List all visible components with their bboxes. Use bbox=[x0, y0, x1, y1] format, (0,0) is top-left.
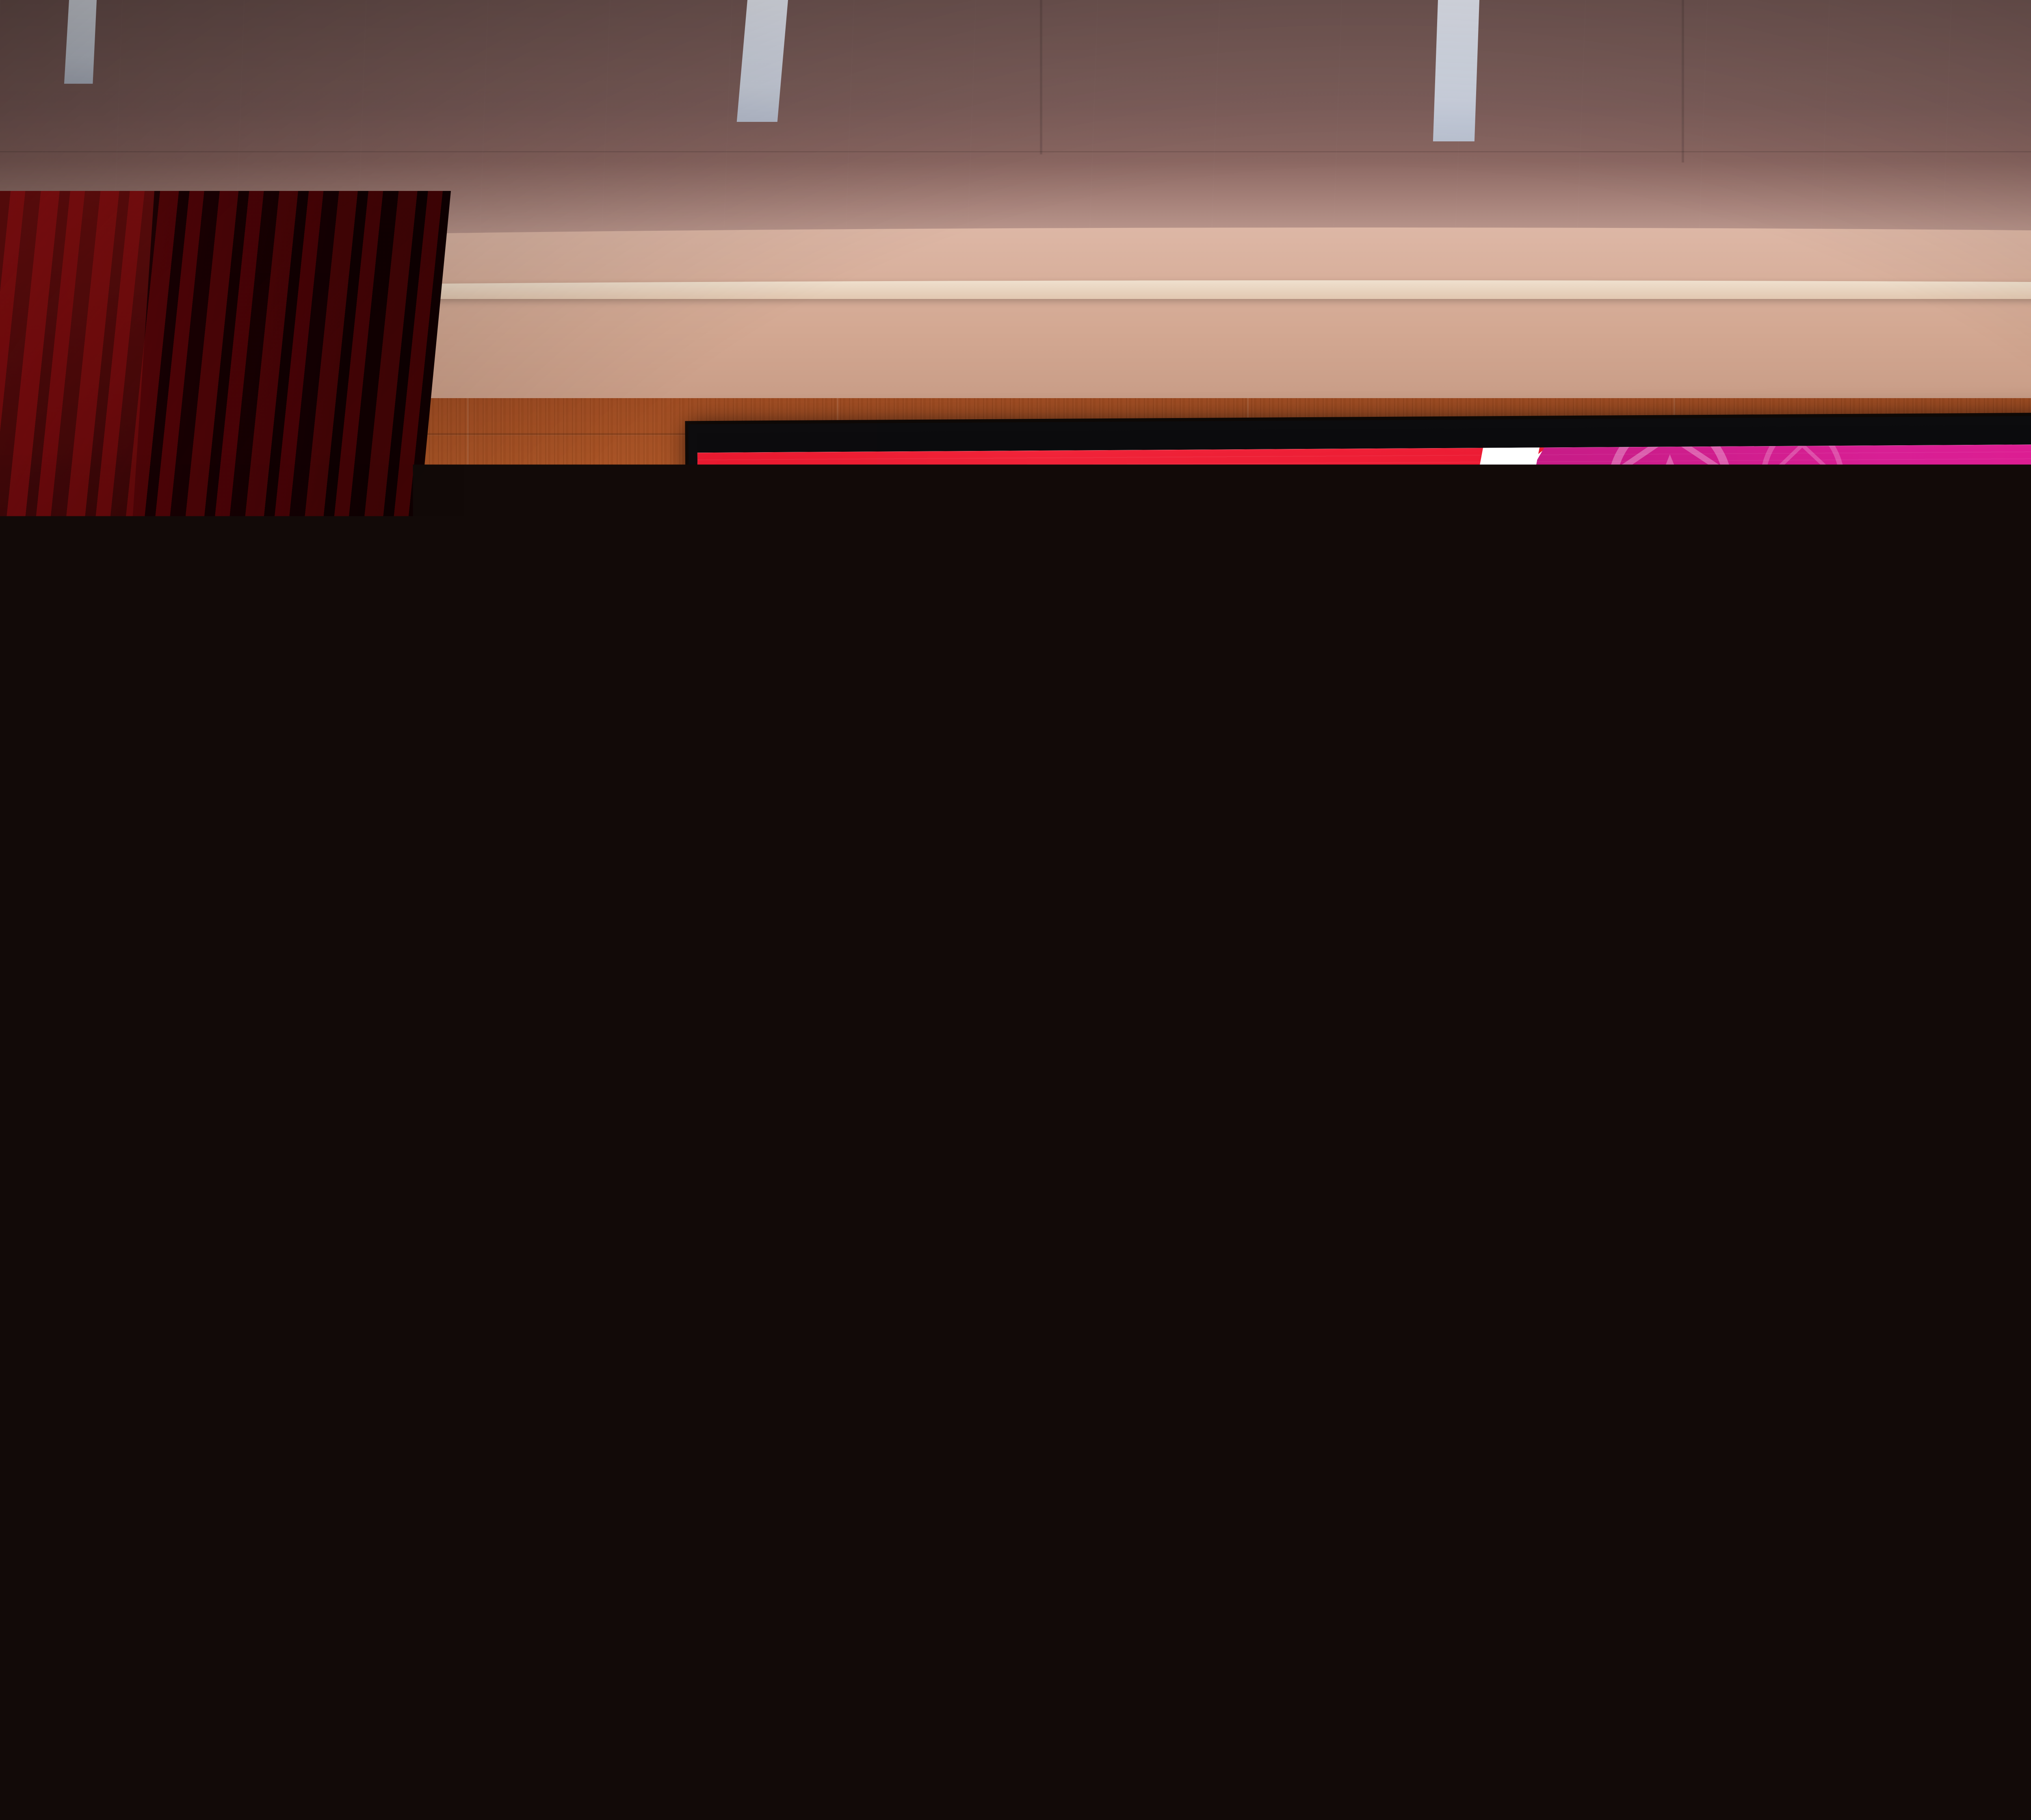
ceiling-seam bbox=[1040, 0, 1042, 154]
presenter-eye-right bbox=[379, 1026, 391, 1031]
svg-text:NANKAI UNIVERSITY: NANKAI UNIVERSITY bbox=[406, 1290, 500, 1302]
nankai-seal-icon bbox=[737, 468, 786, 516]
wall-outlet-plate bbox=[1747, 1253, 1767, 1295]
nankai-name-block: 南开大学商学院 NANKAI BUSINESS SCHOOL bbox=[795, 471, 1007, 511]
header-watermark-icon bbox=[1584, 441, 1756, 532]
flourish-divider-icon bbox=[1879, 785, 2029, 795]
speaker-label bbox=[967, 1562, 1005, 1600]
speaker-power-led bbox=[898, 1591, 905, 1598]
podium-top-surface bbox=[323, 1163, 582, 1200]
podium-frieze-panel bbox=[472, 1218, 494, 1244]
slide-header-band: 南开大学商学院 NANKAI BUSINESS SCHOOL 智 / 圆 / 行… bbox=[697, 441, 2031, 532]
certificate-lace-left bbox=[1037, 647, 1068, 945]
speaker-podium: NANKAI UNIVERSITY 1919 bbox=[334, 1177, 571, 1599]
podium-frieze-panel bbox=[502, 1219, 524, 1244]
org-name-cn: 南开大学商学院 bbox=[795, 471, 1007, 498]
national-emblem-icon bbox=[1303, 645, 1364, 706]
certificate-serial: 编号： 2018 年第 02600 号 bbox=[1420, 797, 1602, 817]
floor-socket-icon bbox=[1641, 1492, 1680, 1506]
svg-text:中华人民共和国: 中华人民共和国 bbox=[1317, 875, 1368, 884]
podium-frieze-panel bbox=[533, 1219, 555, 1245]
auditorium-stage-photo: 南开大学商学院 NANKAI BUSINESS SCHOOL 智 / 圆 / 行… bbox=[0, 0, 2031, 1820]
water-bottle-icon bbox=[1353, 1750, 1377, 1811]
certificate-title-line2: 荣誉证书 bbox=[1031, 744, 1637, 795]
svg-text:1919: 1919 bbox=[440, 1395, 465, 1408]
wall-outlet-plate bbox=[630, 1243, 652, 1286]
org-name-en: NANKAI BUSINESS SCHOOL bbox=[795, 498, 1007, 511]
nankai-university-emblem-icon: NANKAI UNIVERSITY 1919 bbox=[385, 1280, 520, 1416]
certificate-left-band bbox=[1652, 638, 1678, 947]
certificate-date: 二〇一八年十一月二十日 bbox=[1033, 927, 1638, 946]
podium-frieze bbox=[350, 1216, 555, 1244]
podium-frieze-panel bbox=[381, 1217, 403, 1243]
ceiling-seam bbox=[1682, 0, 1684, 162]
presenter-bangs bbox=[334, 983, 409, 1020]
wall-outlet-plate bbox=[655, 1243, 676, 1286]
podium-rule bbox=[341, 1251, 564, 1257]
seat-back bbox=[1869, 1771, 2007, 1820]
credential-line-3: 特此发证，以资鼓励。 bbox=[1780, 892, 2031, 916]
podium-frieze-panel bbox=[442, 1218, 464, 1244]
credential-serial: 编号： 2018007 bbox=[1763, 927, 1857, 943]
water-bottle-icon bbox=[601, 1741, 626, 1802]
ceiling-baffle bbox=[1433, 0, 1479, 141]
credential-line-2: 奖学金，授予 “南开十杰” 荣誉称号。 bbox=[1762, 863, 2031, 887]
podium-frieze-panel bbox=[350, 1216, 372, 1242]
ceiling-seam bbox=[0, 151, 2031, 152]
ceiling-baffle bbox=[64, 0, 97, 84]
audience-foreground bbox=[0, 1601, 2031, 1820]
presenter-mouth bbox=[363, 1051, 381, 1058]
certificate-doctoral-scholarship: 博士研究生国家奖学金 荣誉证书 编号： 2018 年第 02600 号 曹倩 同… bbox=[1031, 638, 1638, 950]
wall-outlet-plate bbox=[841, 1246, 861, 1288]
certificate-recipient-name: 曹倩 bbox=[1074, 857, 1109, 877]
certificate-body-text: 同学荣获 2018 年博士研究生国家奖学金，特颁此证。 bbox=[1114, 858, 1480, 876]
certificate-lace-right bbox=[1600, 643, 1632, 941]
wall-outlet-plate bbox=[1353, 1250, 1373, 1292]
header-watermark-icon bbox=[1735, 441, 1870, 532]
nankai-logo-lockup: 南开大学商学院 NANKAI BUSINESS SCHOOL bbox=[737, 467, 1007, 516]
presenter-eye-left bbox=[352, 1026, 364, 1031]
slide-surface: 南开大学商学院 NANKAI BUSINESS SCHOOL 智 / 圆 / 行… bbox=[697, 441, 2031, 1123]
water-bottle-icon bbox=[1121, 1748, 1145, 1809]
certificate-row: 博士研究生国家奖学金 荣誉证书 编号： 2018 年第 02600 号 曹倩 同… bbox=[699, 632, 2031, 964]
credential-salutation: 曹倩 同学： bbox=[1747, 805, 1830, 826]
credential-line-1: 获得 2017-2018 学年度南开大学研究生特等 bbox=[1780, 834, 2031, 857]
certificate-inner-panel bbox=[1687, 666, 2031, 932]
led-display-screen[interactable]: 南开大学商学院 NANKAI BUSINESS SCHOOL 智 / 圆 / 行… bbox=[688, 413, 2031, 1168]
stage-monitor-left bbox=[751, 1446, 1028, 1617]
certificate-honorary-credential: 荣誉证书 HONORARY CREDENTIAL 曹倩 同学： 获得 2017-… bbox=[1652, 634, 2031, 947]
certificate-top-ornament bbox=[1713, 657, 2031, 682]
podium-frieze-panel bbox=[411, 1218, 433, 1243]
wall-outlet-plate-dark bbox=[1479, 1248, 1497, 1289]
wall-outlet-plate bbox=[1063, 1247, 1084, 1289]
slide-title: 不忘初心，继续前行 bbox=[698, 543, 2031, 629]
